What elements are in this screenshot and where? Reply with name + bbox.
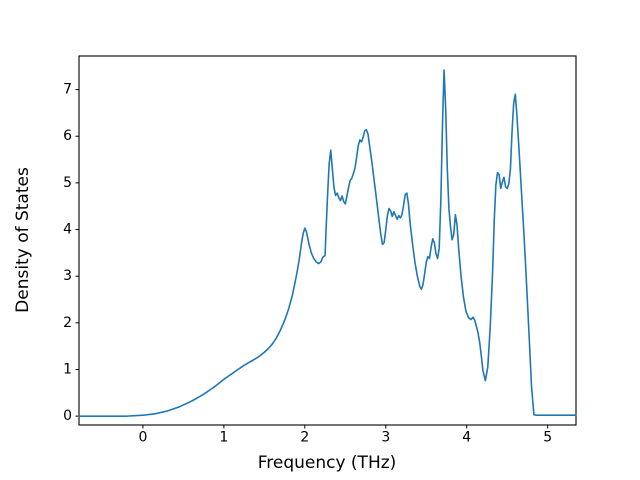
x-tick-label: 4: [462, 430, 471, 446]
y-tick-label: 7: [63, 82, 72, 98]
x-axis-ticks: 012345: [138, 425, 552, 446]
x-axis-label: Frequency (THz): [258, 453, 397, 473]
plot-svg: 012345 01234567 Frequency (THz) Density …: [0, 0, 640, 480]
y-axis-label: Density of States: [13, 167, 33, 313]
y-tick-label: 2: [63, 315, 72, 331]
y-axis-ticks: 01234567: [63, 82, 79, 425]
y-tick-label: 3: [63, 268, 72, 284]
y-tick-label: 0: [63, 408, 72, 424]
x-tick-label: 5: [543, 430, 552, 446]
y-tick-label: 1: [63, 361, 72, 377]
y-tick-label: 5: [63, 175, 72, 191]
x-tick-label: 2: [300, 430, 309, 446]
figure-canvas: 012345 01234567 Frequency (THz) Density …: [0, 0, 640, 480]
x-tick-label: 1: [219, 430, 228, 446]
plot-area-background: [79, 56, 576, 425]
y-tick-label: 4: [63, 222, 72, 238]
x-tick-label: 3: [381, 430, 390, 446]
x-tick-label: 0: [138, 430, 147, 446]
y-tick-label: 6: [63, 128, 72, 144]
